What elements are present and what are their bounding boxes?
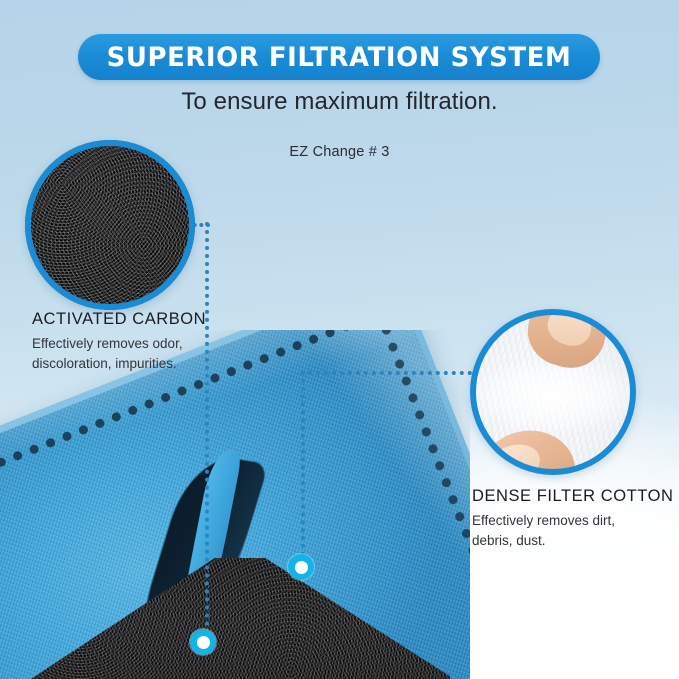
- cotton-circle-ring: [470, 309, 636, 475]
- product-photo: [0, 330, 470, 679]
- callout-body-cotton-line1: Effectively removes dirt,: [472, 511, 679, 531]
- infographic-canvas: SUPERIOR FILTRATION SYSTEM To ensure max…: [0, 0, 679, 679]
- callout-body-carbon-line1: Effectively removes odor,: [32, 334, 262, 354]
- callout-dense-filter-cotton: DENSE FILTER COTTON Effectively removes …: [472, 487, 679, 550]
- callout-title-cotton: DENSE FILTER COTTON: [472, 487, 679, 506]
- callout-body-cotton-line2: debris, dust.: [472, 531, 679, 551]
- title-banner: SUPERIOR FILTRATION SYSTEM: [78, 34, 600, 80]
- callout-body-carbon: Effectively removes odor, discoloration,…: [32, 334, 262, 373]
- page-title: SUPERIOR FILTRATION SYSTEM: [107, 42, 572, 73]
- hotspot-marker-carbon[interactable]: [190, 629, 216, 655]
- cotton-connector-horizontal: [300, 371, 472, 375]
- cotton-connector-vertical: [301, 371, 305, 556]
- callout-body-cotton: Effectively removes dirt, debris, dust.: [472, 511, 679, 550]
- hotspot-marker-cotton[interactable]: [288, 554, 314, 580]
- callout-body-carbon-line2: discoloration, impurities.: [32, 354, 262, 374]
- page-subtitle: To ensure maximum filtration.: [0, 88, 679, 116]
- carbon-circle-ring: [25, 140, 195, 310]
- callout-title-carbon: ACTIVATED CARBON: [32, 310, 262, 329]
- carbon-connector-vertical: [205, 222, 209, 634]
- callout-activated-carbon: ACTIVATED CARBON Effectively removes odo…: [32, 310, 262, 373]
